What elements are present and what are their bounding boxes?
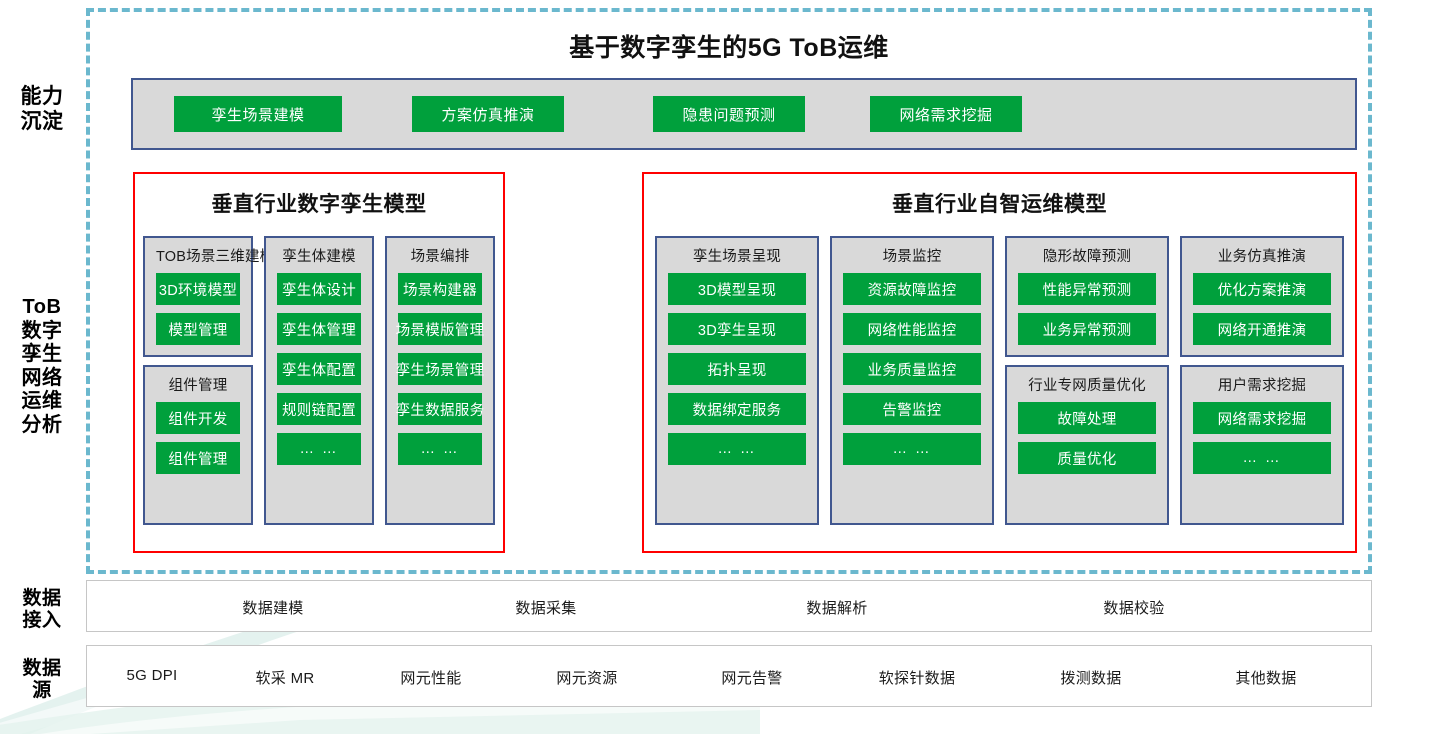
rail-label-capability: 能力沉淀 (0, 85, 84, 135)
group-title: 孪生场景呈现 (668, 245, 806, 266)
twin-column: 场景编排场景构建器场景模版管理孪生场景管理孪生数据服务… … (385, 236, 495, 525)
data-source-item[interactable]: 软采 MR (256, 667, 315, 688)
ops-column: 场景监控资源故障监控网络性能监控业务质量监控告警监控… … (830, 236, 994, 525)
ops-column: 孪生场景呈现3D模型呈现3D孪生呈现拓扑呈现数据绑定服务… … (655, 236, 819, 525)
feature-chip[interactable]: 规则链配置 (277, 393, 361, 425)
ops-group: 行业专网质量优化故障处理质量优化 (1005, 365, 1169, 525)
group-title: TOB场景三维建模 (156, 245, 240, 266)
feature-chip[interactable]: 业务异常预测 (1018, 313, 1156, 345)
panel-digital-twin-model: 垂直行业数字孪生模型 TOB场景三维建模3D环境模型模型管理组件管理组件开发组件… (133, 172, 505, 553)
data-source-item[interactable]: 网元告警 (721, 667, 782, 688)
feature-chip[interactable]: … … (843, 433, 981, 465)
group-title: 行业专网质量优化 (1018, 374, 1156, 395)
capability-chip[interactable]: 孪生场景建模 (174, 96, 342, 132)
feature-chip[interactable]: 组件开发 (156, 402, 240, 434)
group-title: 场景编排 (398, 245, 482, 266)
feature-chip[interactable]: 3D孪生呈现 (668, 313, 806, 345)
feature-chip[interactable]: 孪生体管理 (277, 313, 361, 345)
data-access-item[interactable]: 数据采集 (515, 597, 576, 618)
rail-label-tob-digital-twin: ToB数字孪生网络运维分析 (0, 296, 84, 438)
panel-autonomous-ops-model: 垂直行业自智运维模型 孪生场景呈现3D模型呈现3D孪生呈现拓扑呈现数据绑定服务…… (642, 172, 1357, 553)
ops-columns: 孪生场景呈现3D模型呈现3D孪生呈现拓扑呈现数据绑定服务… …场景监控资源故障监… (655, 236, 1344, 525)
feature-chip[interactable]: 网络开通推演 (1193, 313, 1331, 345)
rail-label-data-source: 数据源 (0, 658, 84, 703)
data-source-item[interactable]: 拨测数据 (1060, 667, 1121, 688)
data-source-item[interactable]: 软探针数据 (879, 667, 956, 688)
ops-group: 场景监控资源故障监控网络性能监控业务质量监控告警监控… … (830, 236, 994, 525)
feature-chip[interactable]: 孪生体设计 (277, 273, 361, 305)
group-title: 孪生体建模 (277, 245, 361, 266)
rail-label-data-access: 数据接入 (0, 588, 84, 633)
panel-title-autonomous-ops: 垂直行业自智运维模型 (644, 188, 1355, 218)
feature-chip[interactable]: 孪生数据服务 (398, 393, 482, 425)
feature-chip[interactable]: … … (668, 433, 806, 465)
group-title: 场景监控 (843, 245, 981, 266)
ops-group: 孪生场景呈现3D模型呈现3D孪生呈现拓扑呈现数据绑定服务… … (655, 236, 819, 525)
feature-chip[interactable]: 优化方案推演 (1193, 273, 1331, 305)
group-title: 用户需求挖掘 (1193, 374, 1331, 395)
feature-chip[interactable]: 组件管理 (156, 442, 240, 474)
feature-chip[interactable]: 性能异常预测 (1018, 273, 1156, 305)
group-title: 隐形故障预测 (1018, 245, 1156, 266)
feature-chip[interactable]: 业务质量监控 (843, 353, 981, 385)
feature-chip[interactable]: 模型管理 (156, 313, 240, 345)
twin-columns: TOB场景三维建模3D环境模型模型管理组件管理组件开发组件管理孪生体建模孪生体设… (143, 236, 495, 525)
twin-group: TOB场景三维建模3D环境模型模型管理 (143, 236, 253, 357)
group-title: 业务仿真推演 (1193, 245, 1331, 266)
data-access-item[interactable]: 数据解析 (806, 597, 867, 618)
capability-band: 孪生场景建模方案仿真推演隐患问题预测网络需求挖掘 (131, 78, 1357, 150)
ops-group: 用户需求挖掘网络需求挖掘… … (1180, 365, 1344, 525)
page-title: 基于数字孪生的5G ToB运维 (86, 28, 1372, 64)
feature-chip[interactable]: 故障处理 (1018, 402, 1156, 434)
data-source-band: 5G DPI软采 MR网元性能网元资源网元告警软探针数据拨测数据其他数据 (86, 645, 1372, 707)
capability-chip[interactable]: 隐患问题预测 (653, 96, 805, 132)
capability-chip[interactable]: 方案仿真推演 (412, 96, 564, 132)
feature-chip[interactable]: … … (1193, 442, 1331, 474)
feature-chip[interactable]: 数据绑定服务 (668, 393, 806, 425)
feature-chip[interactable]: 孪生体配置 (277, 353, 361, 385)
feature-chip[interactable]: 告警监控 (843, 393, 981, 425)
twin-group: 孪生体建模孪生体设计孪生体管理孪生体配置规则链配置… … (264, 236, 374, 525)
feature-chip[interactable]: 拓扑呈现 (668, 353, 806, 385)
capability-chip[interactable]: 网络需求挖掘 (870, 96, 1022, 132)
feature-chip[interactable]: 3D环境模型 (156, 273, 240, 305)
feature-chip[interactable]: 场景模版管理 (398, 313, 482, 345)
ops-group: 隐形故障预测性能异常预测业务异常预测 (1005, 236, 1169, 357)
data-source-item[interactable]: 其他数据 (1235, 667, 1296, 688)
twin-group: 场景编排场景构建器场景模版管理孪生场景管理孪生数据服务… … (385, 236, 495, 525)
feature-chip[interactable]: 网络需求挖掘 (1193, 402, 1331, 434)
data-access-item[interactable]: 数据建模 (242, 597, 303, 618)
feature-chip[interactable]: 网络性能监控 (843, 313, 981, 345)
feature-chip[interactable]: … … (277, 433, 361, 465)
feature-chip[interactable]: 3D模型呈现 (668, 273, 806, 305)
data-access-band: 数据建模数据采集数据解析数据校验 (86, 580, 1372, 632)
feature-chip[interactable]: 质量优化 (1018, 442, 1156, 474)
feature-chip[interactable]: 场景构建器 (398, 273, 482, 305)
ops-column: 隐形故障预测性能异常预测业务异常预测行业专网质量优化故障处理质量优化 (1005, 236, 1169, 525)
data-access-item[interactable]: 数据校验 (1103, 597, 1164, 618)
panel-title-digital-twin: 垂直行业数字孪生模型 (135, 188, 503, 218)
diagram-root: 能力沉淀 ToB数字孪生网络运维分析 数据接入 数据源 基于数字孪生的5G To… (0, 0, 1438, 734)
twin-column: TOB场景三维建模3D环境模型模型管理组件管理组件开发组件管理 (143, 236, 253, 525)
ops-group: 业务仿真推演优化方案推演网络开通推演 (1180, 236, 1344, 357)
ops-column: 业务仿真推演优化方案推演网络开通推演用户需求挖掘网络需求挖掘… … (1180, 236, 1344, 525)
data-source-item[interactable]: 网元性能 (400, 667, 461, 688)
twin-group: 组件管理组件开发组件管理 (143, 365, 253, 525)
feature-chip[interactable]: 资源故障监控 (843, 273, 981, 305)
data-source-item[interactable]: 5G DPI (127, 667, 178, 684)
twin-column: 孪生体建模孪生体设计孪生体管理孪生体配置规则链配置… … (264, 236, 374, 525)
feature-chip[interactable]: … … (398, 433, 482, 465)
group-title: 组件管理 (156, 374, 240, 395)
feature-chip[interactable]: 孪生场景管理 (398, 353, 482, 385)
data-source-item[interactable]: 网元资源 (556, 667, 617, 688)
